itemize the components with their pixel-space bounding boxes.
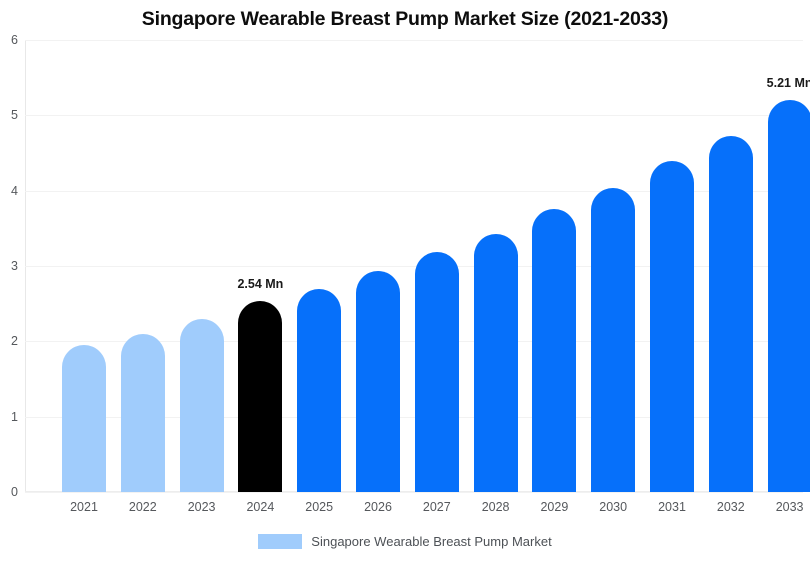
bar[interactable] xyxy=(238,301,282,492)
bar[interactable] xyxy=(709,136,753,492)
gridline xyxy=(25,492,803,493)
bar-value-label: 2.54 Mn xyxy=(237,277,283,291)
plot-area xyxy=(25,40,803,492)
bar[interactable] xyxy=(474,234,518,492)
bar[interactable] xyxy=(62,345,106,492)
y-axis-tick: 4 xyxy=(0,184,18,198)
bar[interactable] xyxy=(532,209,576,492)
y-axis-tick: 6 xyxy=(0,33,18,47)
bar[interactable] xyxy=(650,161,694,492)
bar[interactable] xyxy=(356,271,400,492)
x-axis-tick: 2029 xyxy=(540,500,568,514)
x-axis-tick: 2030 xyxy=(599,500,627,514)
gridline xyxy=(25,40,803,41)
x-axis-tick: 2021 xyxy=(70,500,98,514)
chart-legend: Singapore Wearable Breast Pump Market xyxy=(0,534,810,549)
x-axis-tick: 2025 xyxy=(305,500,333,514)
bar[interactable] xyxy=(415,252,459,492)
x-axis-tick: 2027 xyxy=(423,500,451,514)
bar[interactable] xyxy=(297,289,341,492)
x-axis-tick: 2024 xyxy=(246,500,274,514)
legend-label: Singapore Wearable Breast Pump Market xyxy=(311,534,551,549)
bar[interactable] xyxy=(591,188,635,492)
gridline xyxy=(25,115,803,116)
y-axis-tick: 1 xyxy=(0,410,18,424)
chart-container: Singapore Wearable Breast Pump Market Si… xyxy=(0,0,810,562)
y-axis-tick: 5 xyxy=(0,108,18,122)
y-axis-tick: 3 xyxy=(0,259,18,273)
y-axis-tick: 2 xyxy=(0,334,18,348)
x-axis-tick: 2031 xyxy=(658,500,686,514)
x-axis-tick: 2033 xyxy=(776,500,804,514)
chart-title: Singapore Wearable Breast Pump Market Si… xyxy=(0,8,810,31)
x-axis-tick: 2022 xyxy=(129,500,157,514)
x-axis-tick: 2023 xyxy=(188,500,216,514)
legend-swatch-icon xyxy=(258,534,302,549)
x-axis-tick: 2028 xyxy=(482,500,510,514)
bar-value-label: 5.21 Mn xyxy=(767,76,810,90)
x-axis-tick: 2032 xyxy=(717,500,745,514)
x-axis-tick: 2026 xyxy=(364,500,392,514)
bar[interactable] xyxy=(768,100,810,492)
bar[interactable] xyxy=(180,319,224,492)
y-axis-tick: 0 xyxy=(0,485,18,499)
bar[interactable] xyxy=(121,334,165,492)
